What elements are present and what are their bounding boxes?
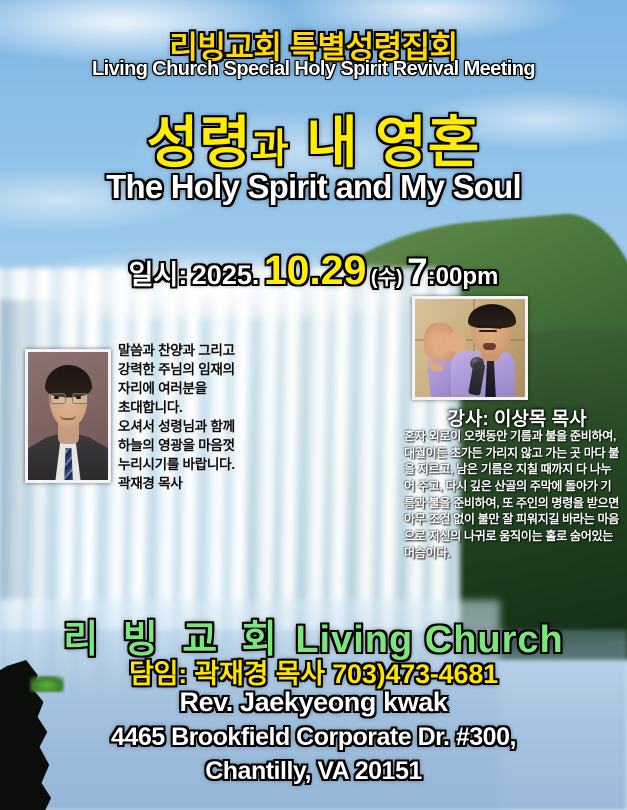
- portrait-eye-left: [54, 396, 59, 399]
- portrait-eye-right: [76, 396, 81, 399]
- main-title-korean-part1: 성령: [147, 111, 252, 174]
- main-title-korean-particle: 과: [252, 127, 290, 171]
- main-title-english: The Holy Spirit and My Soul: [0, 168, 627, 206]
- invitation-text: 말씀과 찬양과 그리고강력한 주님의 임재의자리에 여러분을초대합니다.오셔서 …: [118, 341, 308, 493]
- address-line-2: Chantilly, VA 20151: [0, 757, 627, 786]
- address-line-1: 4465 Brookfield Corporate Dr. #300,: [0, 723, 627, 752]
- speaker-mouth: [483, 343, 496, 350]
- pastor-and-phone[interactable]: 담임: 곽재경 목사 703)473-4681: [0, 652, 627, 691]
- date-month-day: 10.29: [264, 247, 367, 293]
- main-title-korean-part2: 내 영혼: [290, 111, 481, 174]
- time-hour: 7: [407, 251, 428, 292]
- revival-meeting-poster: 리빙교회 특별성령집회 Living Church Special Holy S…: [0, 0, 627, 810]
- date-day-of-week: (수): [371, 267, 403, 289]
- date-label: 일시:: [129, 260, 188, 290]
- speaker-biography: 혼자 외로이 오랫동안 기름과 불을 준비하여, 대궐이든 초가든 가리지 않고…: [404, 428, 622, 562]
- event-date-line: 일시: 2025. 10.29 (수) 7:00pm: [0, 247, 627, 294]
- speaker-raised-hand: [424, 323, 456, 361]
- portrait-glasses-right: [72, 393, 88, 404]
- date-year: 2025.: [192, 260, 260, 290]
- portrait-mouth: [60, 415, 76, 420]
- main-title-korean: 성령과 내 영혼: [0, 98, 627, 179]
- photo-pastor-kwak: [25, 349, 111, 483]
- headline-english: Living Church Special Holy Spirit Reviva…: [0, 58, 627, 81]
- portrait-glasses-bridge: [64, 397, 72, 398]
- reverend-name-english: Rev. Jaekyeong kwak: [0, 687, 627, 718]
- photo-speaker-lee: [412, 296, 528, 400]
- speaker-name-label: 강사: 이상목 목사: [412, 404, 622, 431]
- portrait-glasses-left: [50, 393, 66, 404]
- speaker-eye: [479, 330, 497, 332]
- time-minute: :00pm: [428, 263, 499, 290]
